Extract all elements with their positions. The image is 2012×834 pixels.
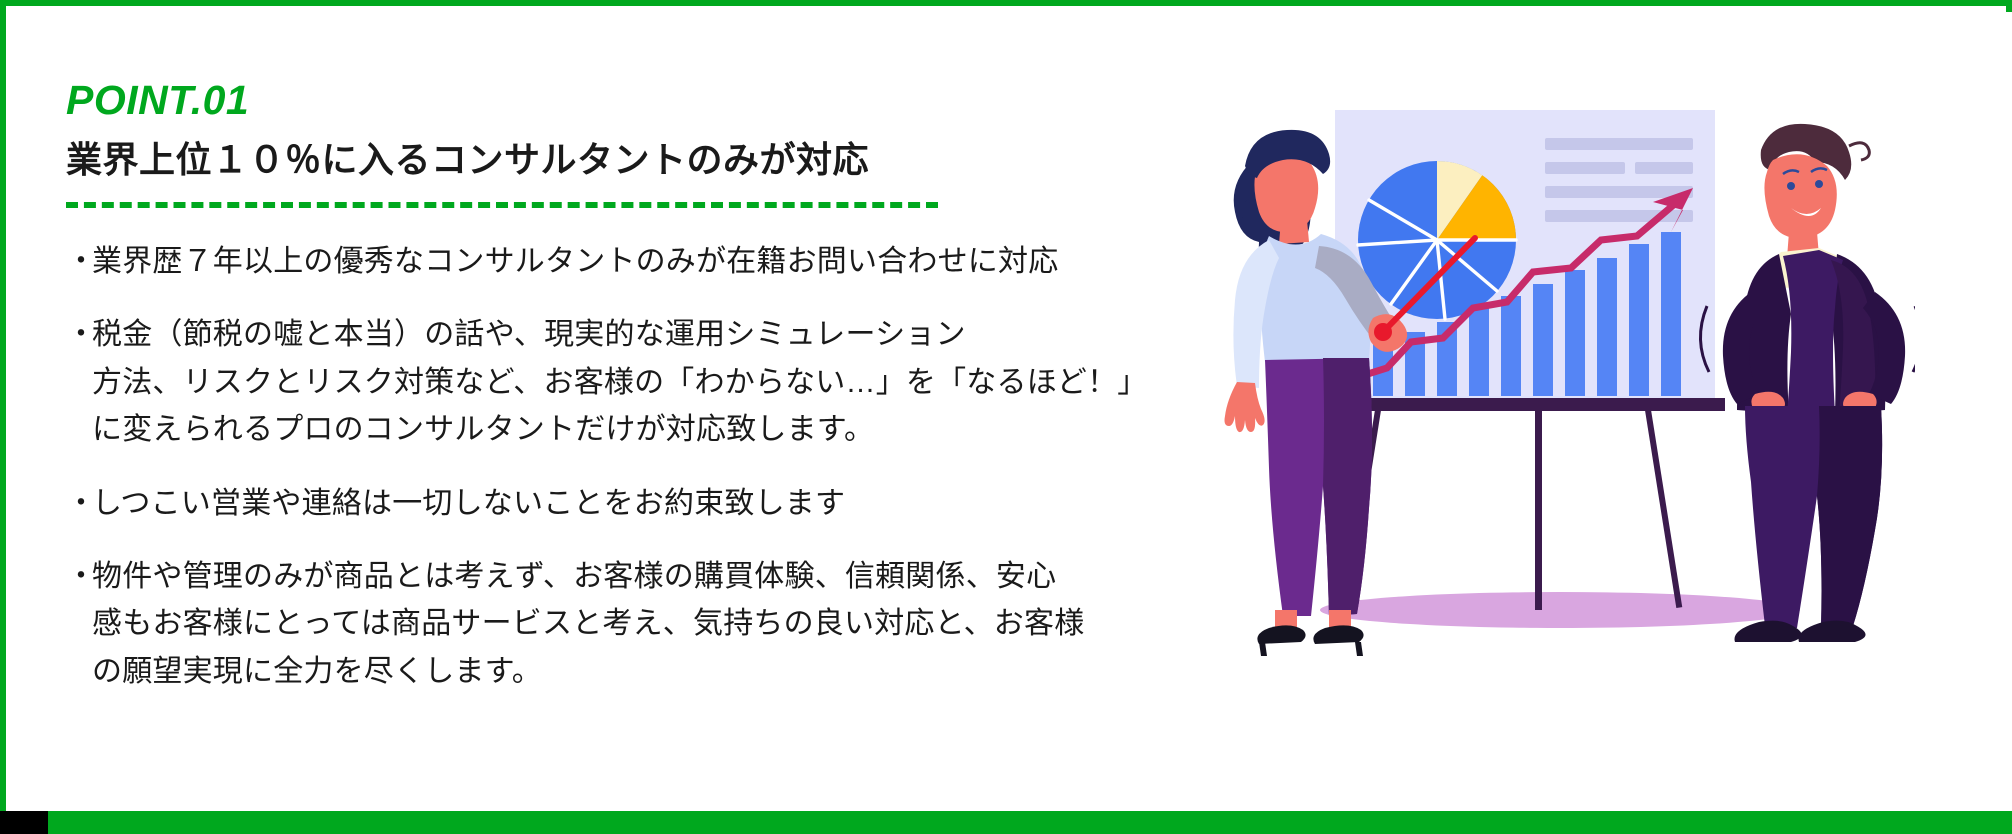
frame-border-left [0,0,6,816]
face [1764,154,1836,238]
point-eyebrow-label: POINT.01 [66,80,1246,121]
bar [1661,232,1681,396]
eye-left [1787,182,1795,190]
pointer-grip [1374,323,1392,341]
hand-left [1225,382,1265,432]
list-item: ・ しつこい営業や連絡は一切しないことをお約束致します [66,480,1246,527]
shoe-left [1257,625,1305,644]
bar [1629,244,1649,396]
frame-border-bottom [48,811,2012,834]
bullet-marker-icon: ・ [66,311,92,358]
shoe-right [1313,625,1363,644]
list-item-body: 税金（節税の嘘と本当）の話や、現実的な運用シミュレーション 方法、リスクとリスク… [92,311,1246,453]
text-content: POINT.01 業界上位１０％に入るコンサルタントのみが対応 ・ 業界歴７年以… [66,80,1246,721]
board-tray [1325,398,1725,411]
male-listener [1700,124,1915,642]
shoe-heel-right [1355,642,1363,656]
shoe-heel-left [1259,642,1267,656]
bullet-marker-icon: ・ [66,480,92,527]
page-title: 業界上位１０％に入るコンサルタントのみが対応 [66,137,1246,182]
bar [1597,258,1617,396]
bullet-marker-icon: ・ [66,553,92,600]
list-item: ・ 業界歴７年以上の優秀なコンサルタントのみが在籍お問い合わせに対応 [66,238,1246,285]
frame-border-right-cap [2006,0,2012,12]
list-item-line: 方法、リスクとリスク対策など、お客様の「わからない…」を「なるほど！」 [92,366,1148,399]
list-item-line: の願望実現に全力を尽くします。 [92,655,542,688]
bar [1501,296,1521,396]
list-item-line: 物件や管理のみが商品とは考えず、お客様の購買体験、信頼関係、安心 [92,560,1056,593]
list-item: ・ 物件や管理のみが商品とは考えず、お客様の購買体験、信頼関係、安心 感もお客様… [66,553,1246,695]
list-item: ・ 税金（節税の嘘と本当）の話や、現実的な運用シミュレーション 方法、リスクとリ… [66,311,1246,453]
list-item-body: 物件や管理のみが商品とは考えず、お客様の購買体験、信頼関係、安心 感もお客様にと… [92,553,1246,695]
list-item-line: 税金（節税の嘘と本当）の話や、現実的な運用シミュレーション [92,318,966,351]
easel-legs [1344,410,1683,610]
neck [1279,220,1309,244]
bar [1565,270,1585,396]
motion-mark-right [1913,306,1915,372]
trousers-shade [1817,406,1882,628]
list-item-body: 業界歴７年以上の優秀なコンサルタントのみが在籍お問い合わせに対応 [92,238,1246,285]
trousers-shade [1323,358,1372,616]
list-item-line: しつこい営業や連絡は一切しないことをお約束致します [92,487,845,520]
hair-wisp [1849,143,1869,160]
floor-shadow [1320,592,1800,628]
list-item-body: しつこい営業や連絡は一切しないことをお約束致します [92,480,1246,527]
bullet-list: ・ 業界歴７年以上の優秀なコンサルタントのみが在籍お問い合わせに対応 ・ 税金（… [66,238,1246,695]
list-item-line: に変えられるプロのコンサルタントだけが対応致します。 [92,413,874,446]
list-item-line: 感もお客様にとっては商品サービスと考え、気持ちの良い対応と、お客様 [92,607,1084,640]
bullet-marker-icon: ・ [66,238,92,285]
list-item-line: 業界歴７年以上の優秀なコンサルタントのみが在籍お問い合わせに対応 [92,245,1058,278]
dashed-divider [66,202,938,208]
frame-bottom-black-nub [0,811,48,834]
shoe-right [1799,621,1866,642]
bar [1469,308,1489,396]
bar [1533,284,1553,396]
whiteboard [1325,110,1725,411]
consultants-illustration [1215,110,1915,690]
point-card: POINT.01 業界上位１０％に入るコンサルタントのみが対応 ・ 業界歴７年以… [0,0,2012,834]
pie-chart [1358,161,1516,319]
frame-border-top [0,0,2012,6]
eye-right [1815,180,1823,188]
